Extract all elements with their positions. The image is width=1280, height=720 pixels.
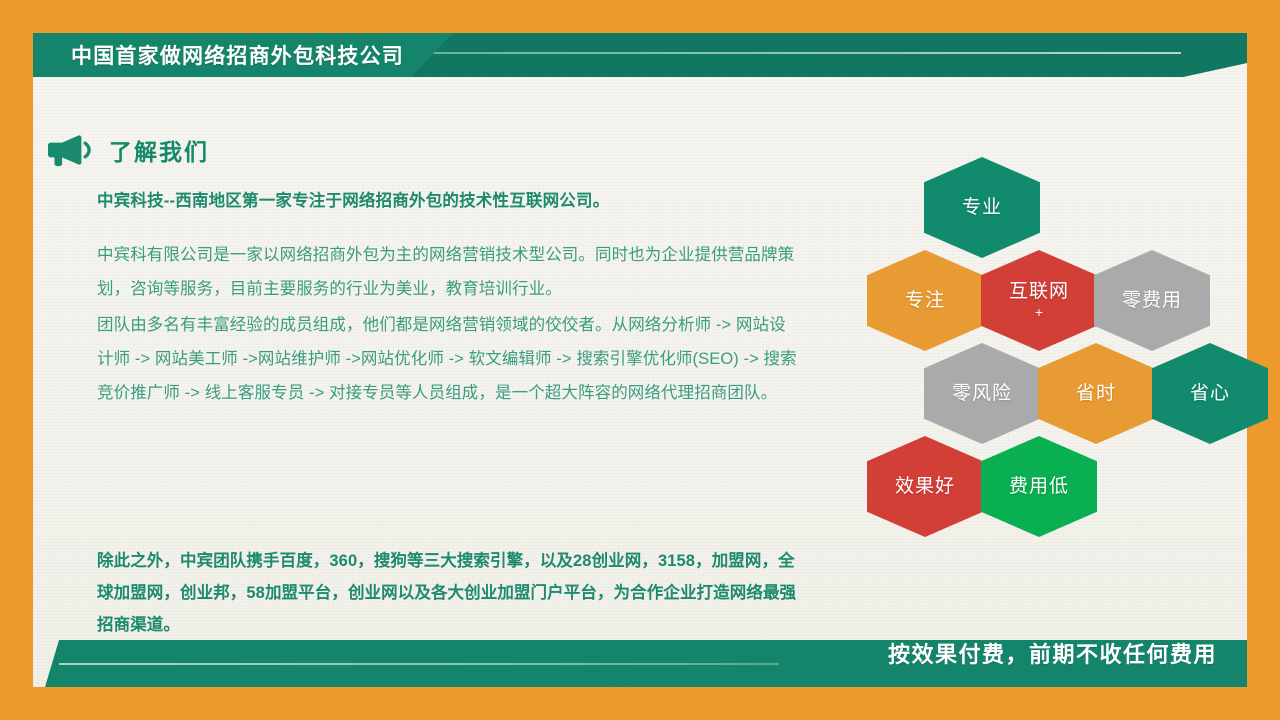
megaphone-icon <box>45 133 91 167</box>
hexagon-label: 省心 <box>1190 383 1230 405</box>
about-paragraph-2: 团队由多名有丰富经验的成员组成，他们都是网络营销领域的佼佼者。从网络分析师 ->… <box>97 308 797 410</box>
hexagon-label: 零风险 <box>952 383 1012 405</box>
hexagon-sublabel: + <box>1035 304 1043 320</box>
hexagon-tile: 效果好 <box>867 436 983 537</box>
hexagon-label: 互联网 <box>1009 281 1069 303</box>
hexagon-label: 费用低 <box>1009 476 1069 498</box>
hexagon-cluster: 专业专注互联网+零费用零风险省时省心效果好费用低 <box>830 150 1250 550</box>
hexagon-tile: 专业 <box>924 157 1040 258</box>
hexagon-label: 效果好 <box>895 476 955 498</box>
about-lead-text: 中宾科技--西南地区第一家专注于网络招商外包的技术性互联网公司。 <box>97 190 797 214</box>
hexagon-tile: 费用低 <box>981 436 1097 537</box>
slide-canvas: 中国首家做网络招商外包科技公司 了解我们 中宾科技--西南地区第一家专注于网络招… <box>0 0 1280 720</box>
hexagon-tile: 省时 <box>1038 343 1154 444</box>
about-paragraph-1: 中宾科有限公司是一家以网络招商外包为主的网络营销技术型公司。同时也为企业提供营品… <box>97 238 797 306</box>
hexagon-tile: 专注 <box>867 250 983 351</box>
hexagon-label: 专注 <box>905 290 945 312</box>
section-title: 了解我们 <box>109 133 209 167</box>
hexagon-tile: 互联网+ <box>981 250 1097 351</box>
footer-tagline: 按效果付费，前期不收任何费用 <box>888 618 1217 687</box>
hexagon-label: 零费用 <box>1122 290 1182 312</box>
hexagon-tile: 零风险 <box>924 343 1040 444</box>
footer-banner: 按效果付费，前期不收任何费用 <box>45 640 1247 687</box>
section-heading: 了解我们 <box>45 133 209 167</box>
hexagon-tile: 零费用 <box>1094 250 1210 351</box>
header-banner: 中国首家做网络招商外包科技公司 <box>33 33 1247 77</box>
about-outro-block: 除此之外，中宾团队携手百度，360，搜狗等三大搜索引擎，以及28创业网，3158… <box>97 545 797 641</box>
hexagon-tile: 省心 <box>1152 343 1268 444</box>
about-outro-text: 除此之外，中宾团队携手百度，360，搜狗等三大搜索引擎，以及28创业网，3158… <box>97 545 797 641</box>
header-title: 中国首家做网络招商外包科技公司 <box>71 33 404 77</box>
footer-divider-line <box>59 663 779 665</box>
hexagon-label: 省时 <box>1076 383 1116 405</box>
about-copy-block: 中宾科技--西南地区第一家专注于网络招商外包的技术性互联网公司。 中宾科有限公司… <box>97 190 797 410</box>
hexagon-label: 专业 <box>962 197 1002 219</box>
